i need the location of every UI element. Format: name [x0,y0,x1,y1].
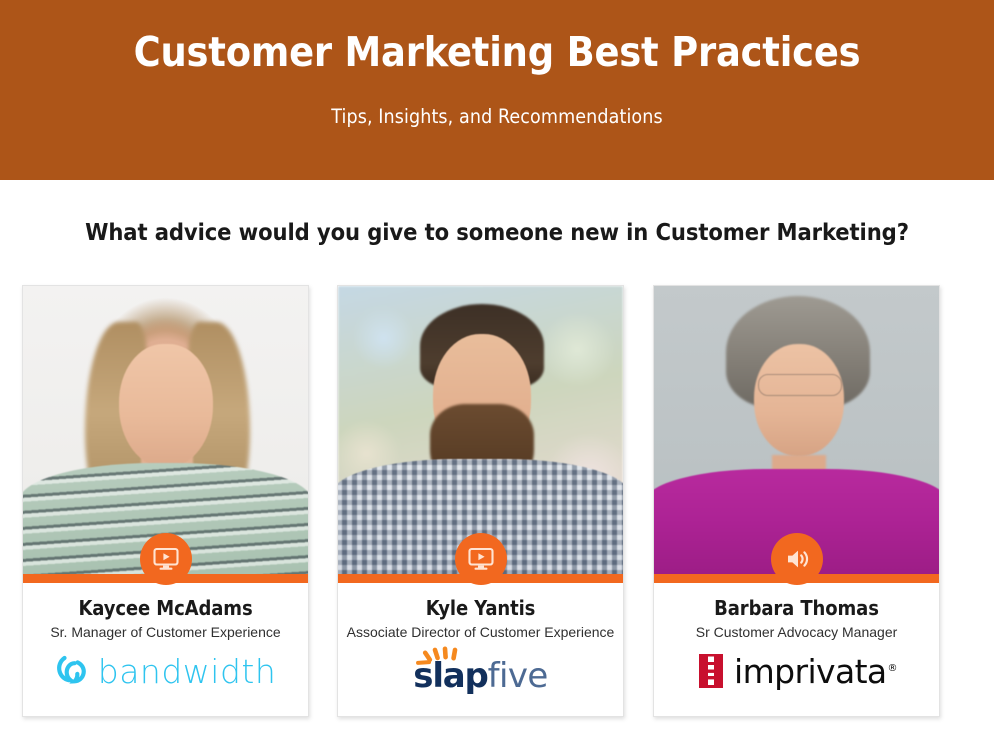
speaker-role: Sr. Manager of Customer Experience [23,624,308,640]
bandwidth-logo: bandwidth [55,654,277,688]
company-logo: slap five [338,644,623,698]
speaker-portrait [338,286,623,575]
page-title: Customer Marketing Best Practices [0,29,994,76]
speaker-card[interactable]: Barbara Thomas Sr Customer Advocacy Mana… [653,285,940,717]
speaker-name: Barbara Thomas [654,596,939,620]
portrait-face [754,344,844,456]
section-question-heading: What advice would you give to someone ne… [0,218,994,246]
speaker-card[interactable]: Kaycee McAdams Sr. Manager of Customer E… [22,285,309,717]
speaker-card[interactable]: Kyle Yantis Associate Director of Custom… [337,285,624,717]
bandwidth-logo-icon [55,654,89,688]
speaker-role: Sr Customer Advocacy Manager [654,624,939,640]
company-logo: imprivata® [654,644,939,698]
page-subtitle: Tips, Insights, and Recommendations [0,105,994,128]
imprivata-logo-icon [696,654,726,688]
audio-speaker-icon[interactable] [771,533,823,585]
video-play-icon[interactable] [455,533,507,585]
slapfive-wordmark-secondary: five [488,659,548,693]
imprivata-wordmark: imprivata® [734,655,897,688]
portrait-glasses [758,374,842,396]
speaker-portrait [654,286,939,575]
speaker-name: Kaycee McAdams [23,596,308,620]
speaker-name: Kyle Yantis [338,596,623,620]
imprivata-wordmark-text: imprivata [734,652,887,691]
bandwidth-wordmark: bandwidth [98,655,277,688]
video-play-icon[interactable] [140,533,192,585]
speaker-portrait [23,286,308,575]
speaker-role: Associate Director of Customer Experienc… [338,624,623,640]
portrait-face [119,344,213,468]
slapfive-rays-icon [416,646,472,668]
slapfive-logo: slap five [413,649,547,693]
company-logo: bandwidth [23,644,308,698]
speaker-card-grid: Kaycee McAdams Sr. Manager of Customer E… [0,285,994,720]
imprivata-logo: imprivata® [696,654,897,688]
header-band: Customer Marketing Best Practices Tips, … [0,0,994,180]
registered-trademark-symbol: ® [888,663,897,674]
